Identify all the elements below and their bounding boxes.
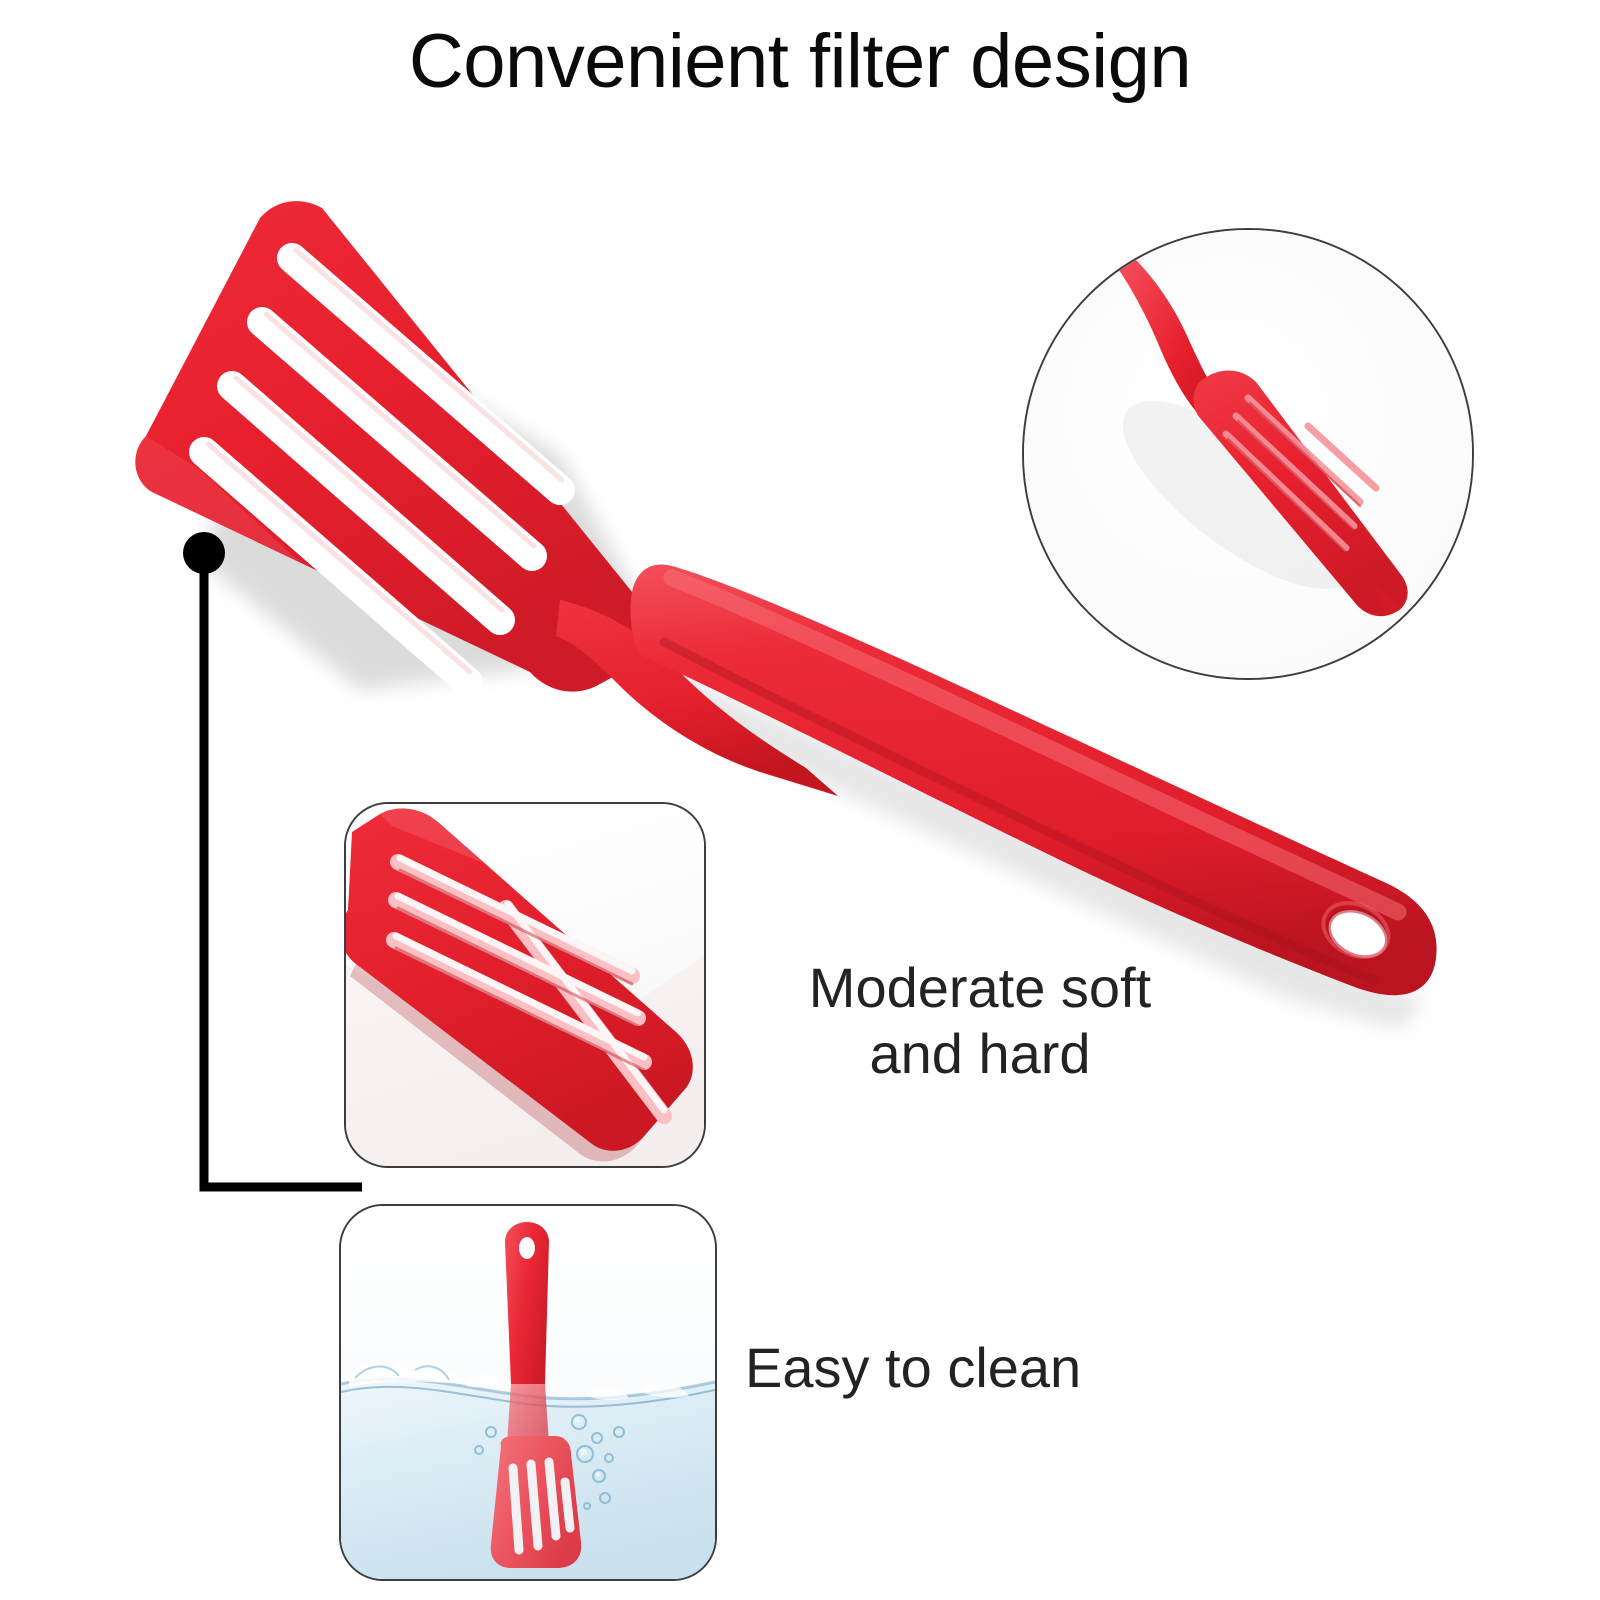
infographic-canvas: Convenient filter design: [0, 0, 1600, 1600]
caption-easy-to-clean: Easy to clean: [745, 1335, 1215, 1401]
inset-blade-closeup-detail[interactable]: [344, 802, 706, 1168]
callout-leader-line: [204, 560, 362, 1187]
callout-dot: [183, 532, 225, 574]
caption-moderate-soft-and-hard: Moderate soft and hard: [745, 955, 1215, 1087]
inset-water-wash-detail[interactable]: [339, 1204, 717, 1581]
inset-edge-view-detail[interactable]: [1022, 228, 1474, 680]
